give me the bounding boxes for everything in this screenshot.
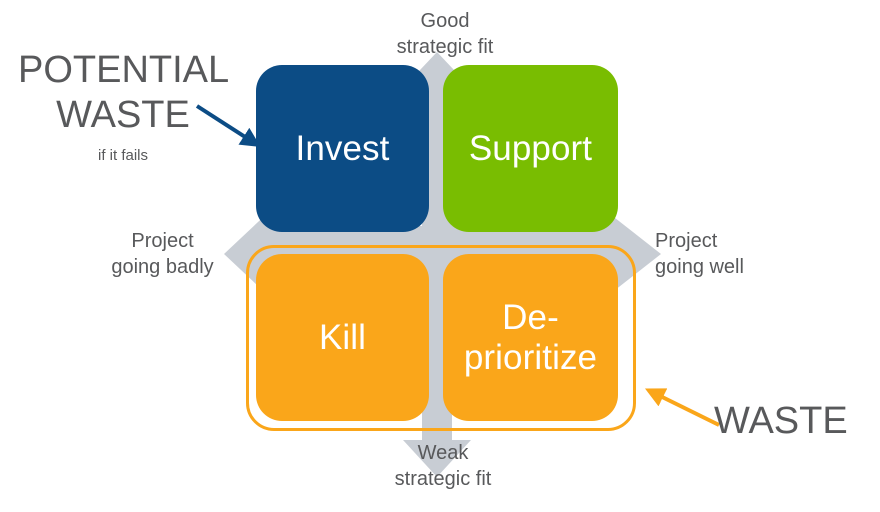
diagram-canvas: Invest Support Kill De- prioritize Good …	[0, 0, 880, 512]
axis-label-bottom: Weak strategic fit	[343, 440, 543, 493]
waste-arrow	[650, 391, 719, 425]
axis-label-left: Project going badly	[100, 228, 225, 281]
annotation-potential-waste-headline: POTENTIAL WASTE	[18, 48, 228, 138]
annotation-potential-waste-subtext: if it fails	[18, 147, 228, 164]
annotation-waste-headline: WASTE	[714, 400, 874, 443]
axis-label-right: Project going well	[655, 228, 785, 281]
axis-label-top: Good strategic fit	[345, 8, 545, 61]
